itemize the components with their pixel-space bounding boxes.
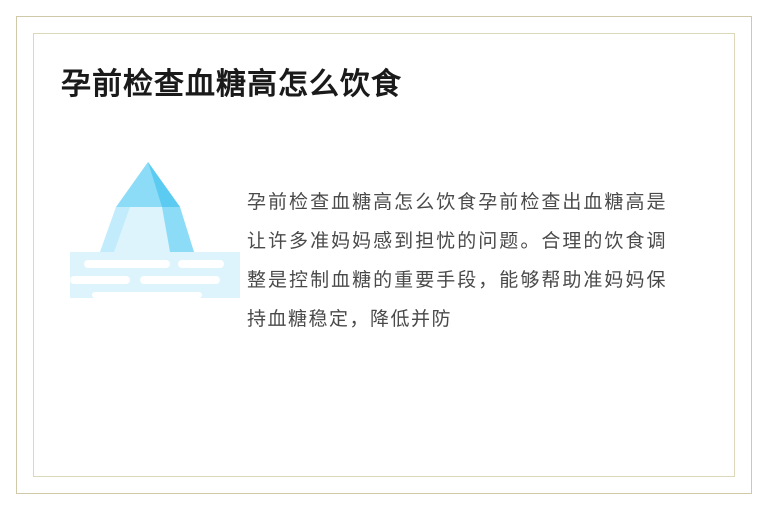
article-card: 孕前检查血糖高怎么饮食 孕前检查血糖高怎么饮食孕前检查出血糖高是让许多准妈妈感到… <box>16 16 752 494</box>
water-line-1-icon <box>84 260 170 268</box>
water-line-5-icon <box>92 292 202 298</box>
water-line-2-icon <box>178 260 224 268</box>
water-line-3-icon <box>70 276 130 284</box>
article-body: 孕前检查血糖高怎么饮食孕前检查出血糖高是让许多准妈妈感到担忧的问题。合理的饮食调… <box>247 183 667 339</box>
page-title: 孕前检查血糖高怎么饮食 <box>61 65 402 105</box>
water-line-4-icon <box>140 276 220 284</box>
water-band-icon <box>70 252 240 298</box>
iceberg-illustration <box>70 152 240 322</box>
